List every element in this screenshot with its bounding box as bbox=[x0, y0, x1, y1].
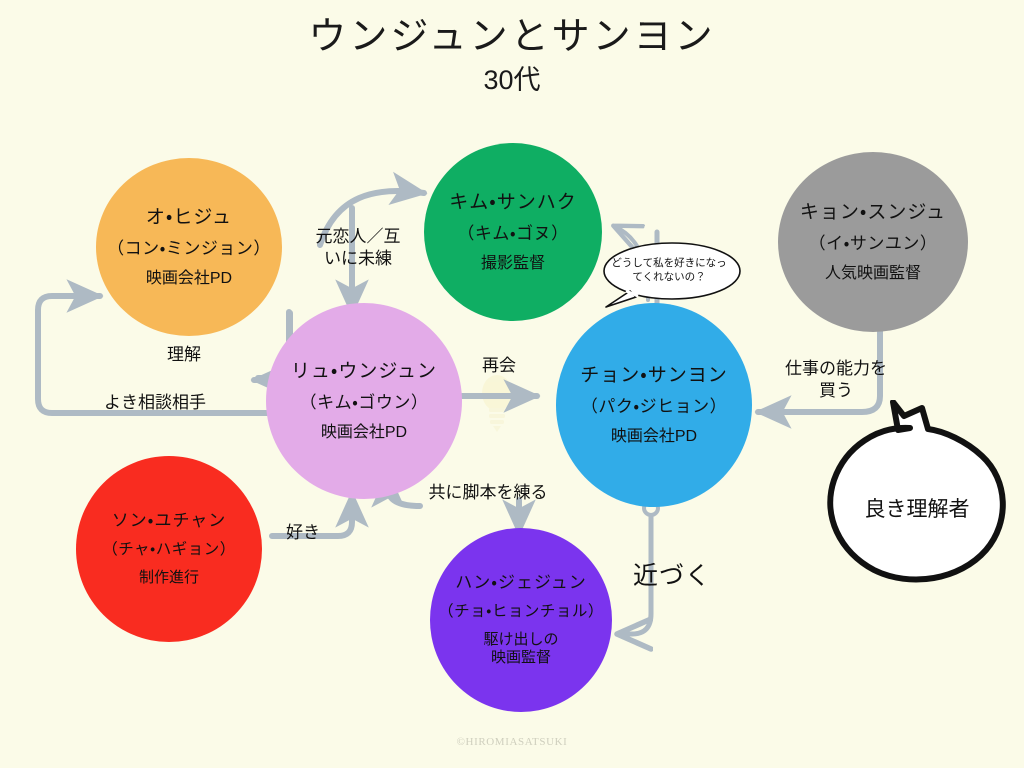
node-role: 映画会社PD bbox=[321, 423, 407, 443]
node-name: チョン・サンヨン bbox=[580, 363, 727, 389]
node-ryu-unjun[interactable]: リュ・ウンジュン （キム・ゴウン） 映画会社PD bbox=[266, 303, 462, 499]
node-chon-sanyon[interactable]: チョン・サンヨン （パク・ジヒョン） 映画会社PD bbox=[556, 303, 752, 507]
node-actor: （キム・ゴヌ） bbox=[457, 223, 568, 246]
node-name: キム・サンハク bbox=[449, 190, 576, 216]
node-han-jejun[interactable]: ハン・ジェジュン （チョ・ヒョンチョル） 駆け出しの 映画監督 bbox=[430, 528, 612, 712]
node-actor: （チャ・ハギョン） bbox=[102, 540, 236, 561]
node-son-yuchan[interactable]: ソン・ユチャン （チャ・ハギョン） 制作進行 bbox=[76, 456, 262, 642]
node-name: キョン・スンジュ bbox=[800, 200, 946, 226]
speech-bubble-good-understander: 良き理解者 bbox=[818, 400, 1016, 590]
node-role: 撮影監督 bbox=[481, 254, 545, 274]
edge-likes bbox=[272, 494, 352, 536]
diagram-canvas: ウンジュンとサンヨン 30代 bbox=[0, 0, 1024, 768]
edge-ohiju-to-sanhaku bbox=[320, 191, 424, 245]
node-kim-sanhaku[interactable]: キム・サンハク （キム・ゴヌ） 撮影監督 bbox=[424, 143, 602, 321]
speech-bubble-why-not-love-me: どうして私を好きになっ てくれないの？ bbox=[594, 239, 744, 311]
node-role: 映画会社PD bbox=[611, 427, 697, 447]
node-name: ソン・ユチャン bbox=[112, 510, 227, 533]
node-actor: （コン・ミンジョン） bbox=[107, 238, 271, 261]
bubble-text: どうして私を好きになっ てくれないの？ bbox=[594, 239, 744, 301]
node-actor: （チョ・ヒョンチョル） bbox=[438, 602, 604, 623]
bubble-text: 良き理解者 bbox=[818, 400, 1016, 590]
node-role: 駆け出しの 映画監督 bbox=[483, 631, 558, 669]
edge-approach bbox=[618, 516, 651, 634]
node-name: リュ・ウンジュン bbox=[291, 359, 437, 385]
edge-buy-ability bbox=[758, 322, 880, 412]
node-actor: （イ・サンユン） bbox=[809, 233, 938, 256]
node-role: 制作進行 bbox=[139, 569, 199, 588]
node-kyon-sunju[interactable]: キョン・スンジュ （イ・サンユン） 人気映画監督 bbox=[778, 152, 968, 332]
node-name: オ・ヒジュ bbox=[146, 205, 232, 231]
node-name: ハン・ジェジュン bbox=[455, 572, 587, 595]
node-role: 人気映画監督 bbox=[825, 264, 921, 284]
node-role: 映画会社PD bbox=[146, 269, 232, 289]
node-actor: （パク・ジヒョン） bbox=[581, 396, 727, 419]
node-actor: （キム・ゴウン） bbox=[300, 392, 429, 415]
lightbulb-watermark bbox=[482, 375, 512, 432]
node-o-hiju[interactable]: オ・ヒジュ （コン・ミンジョン） 映画会社PD bbox=[96, 158, 282, 336]
